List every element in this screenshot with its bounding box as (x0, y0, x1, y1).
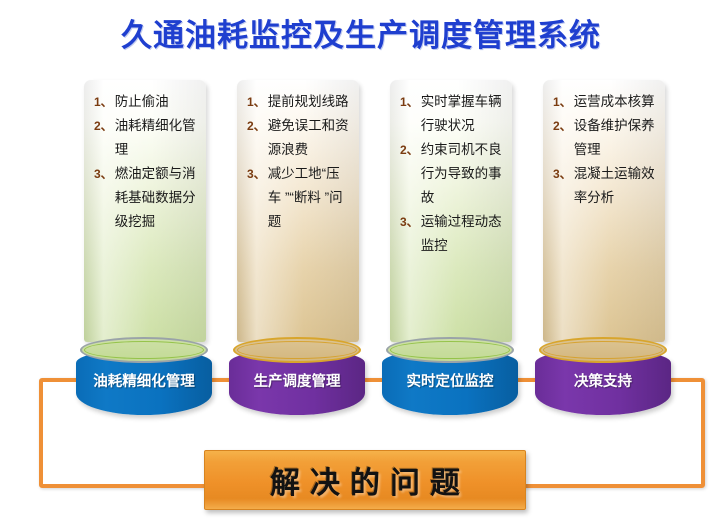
pillar-4-base[interactable]: 决策支持 (535, 337, 671, 415)
list-item-text: 燃油定额与消耗基础数据分级挖掘 (115, 162, 200, 234)
list-item-text: 防止偷油 (115, 90, 200, 114)
pillar-2-base[interactable]: 生产调度管理 (229, 337, 365, 415)
page-title: 久通油耗监控及生产调度管理系统 (0, 10, 722, 55)
list-item: 2、 避免误工和资源浪费 (247, 114, 353, 162)
list-item-number: 3、 (553, 162, 574, 186)
list-item: 2、 设备维护保养管理 (553, 114, 659, 162)
list-item-text: 油耗精细化管理 (115, 114, 200, 162)
pillar-3-tube: 1、 实时掌握车辆行驶状况 2、 约束司机不良行为导致的事故 3、 运输过程动态… (390, 80, 512, 342)
list-item-number: 3、 (94, 162, 115, 186)
pillar-3-list: 1、 实时掌握车辆行驶状况 2、 约束司机不良行为导致的事故 3、 运输过程动态… (390, 80, 512, 258)
pillar-2-base-label: 生产调度管理 (229, 370, 365, 391)
list-item: 2、 油耗精细化管理 (94, 114, 200, 162)
list-item-number: 1、 (94, 90, 115, 114)
list-item-text: 混凝土运输效率分析 (574, 162, 659, 210)
list-item-number: 2、 (94, 114, 115, 138)
pillar-1-base-rim (80, 337, 208, 363)
list-item-text: 减少工地“压车 ”“断料 ”问题 (268, 162, 353, 234)
list-item: 3、 燃油定额与消耗基础数据分级挖掘 (94, 162, 200, 234)
list-item-text: 设备维护保养管理 (574, 114, 659, 162)
list-item-text: 避免误工和资源浪费 (268, 114, 353, 162)
list-item-text: 实时掌握车辆行驶状况 (421, 90, 506, 138)
pillar-4-tube: 1、 运营成本核算 2、 设备维护保养管理 3、 混凝土运输效率分析 (543, 80, 665, 342)
problems-solved-banner[interactable]: 解决的问题 (204, 450, 526, 510)
pillar-1-list: 1、 防止偷油 2、 油耗精细化管理 3、 燃油定额与消耗基础数据分级挖掘 (84, 80, 206, 234)
pillar-2-base-rim (233, 337, 361, 363)
list-item-text: 运营成本核算 (574, 90, 659, 114)
pillar-4-base-rim (539, 337, 667, 363)
pillar-1-base[interactable]: 油耗精细化管理 (76, 337, 212, 415)
list-item-text: 约束司机不良行为导致的事故 (421, 138, 506, 210)
list-item-number: 3、 (247, 162, 268, 186)
list-item: 1、 防止偷油 (94, 90, 200, 114)
list-item-number: 2、 (247, 114, 268, 138)
pillar-production-dispatch[interactable]: 1、 提前规划线路 2、 避免误工和资源浪费 3、 减少工地“压车 ”“断料 ”… (229, 80, 365, 415)
list-item-number: 3、 (400, 210, 421, 234)
pillar-2-list: 1、 提前规划线路 2、 避免误工和资源浪费 3、 减少工地“压车 ”“断料 ”… (237, 80, 359, 234)
list-item: 3、 混凝土运输效率分析 (553, 162, 659, 210)
pillar-decision-support[interactable]: 1、 运营成本核算 2、 设备维护保养管理 3、 混凝土运输效率分析 决策支持 (535, 80, 671, 415)
list-item: 1、 运营成本核算 (553, 90, 659, 114)
problems-solved-label: 解决的问题 (260, 458, 470, 502)
list-item-text: 提前规划线路 (268, 90, 353, 114)
pillar-3-base-label: 实时定位监控 (382, 370, 518, 391)
list-item: 3、 运输过程动态监控 (400, 210, 506, 258)
pillar-2-base-rim-inner (237, 341, 357, 359)
pillar-1-base-rim-inner (84, 341, 204, 359)
list-item-number: 1、 (247, 90, 268, 114)
pillar-1-tube: 1、 防止偷油 2、 油耗精细化管理 3、 燃油定额与消耗基础数据分级挖掘 (84, 80, 206, 342)
pillar-realtime-positioning[interactable]: 1、 实时掌握车辆行驶状况 2、 约束司机不良行为导致的事故 3、 运输过程动态… (382, 80, 518, 415)
list-item-number: 2、 (553, 114, 574, 138)
list-item: 2、 约束司机不良行为导致的事故 (400, 138, 506, 210)
list-item-number: 2、 (400, 138, 421, 162)
pillar-3-base-rim-inner (390, 341, 510, 359)
pillar-3-base-rim (386, 337, 514, 363)
pillar-2-tube: 1、 提前规划线路 2、 避免误工和资源浪费 3、 减少工地“压车 ”“断料 ”… (237, 80, 359, 342)
pillar-4-base-label: 决策支持 (535, 370, 671, 391)
list-item: 3、 减少工地“压车 ”“断料 ”问题 (247, 162, 353, 234)
pillar-fuel-management[interactable]: 1、 防止偷油 2、 油耗精细化管理 3、 燃油定额与消耗基础数据分级挖掘 油耗… (76, 80, 212, 415)
list-item-text: 运输过程动态监控 (421, 210, 506, 258)
pillar-4-base-rim-inner (543, 341, 663, 359)
list-item: 1、 提前规划线路 (247, 90, 353, 114)
list-item: 1、 实时掌握车辆行驶状况 (400, 90, 506, 138)
pillar-1-base-label: 油耗精细化管理 (76, 370, 212, 391)
list-item-number: 1、 (553, 90, 574, 114)
list-item-number: 1、 (400, 90, 421, 114)
pillar-3-base[interactable]: 实时定位监控 (382, 337, 518, 415)
slide-canvas: 久通油耗监控及生产调度管理系统 1、 防止偷油 2、 油耗精细化管理 3、 燃油… (0, 0, 722, 526)
pillar-4-list: 1、 运营成本核算 2、 设备维护保养管理 3、 混凝土运输效率分析 (543, 80, 665, 210)
